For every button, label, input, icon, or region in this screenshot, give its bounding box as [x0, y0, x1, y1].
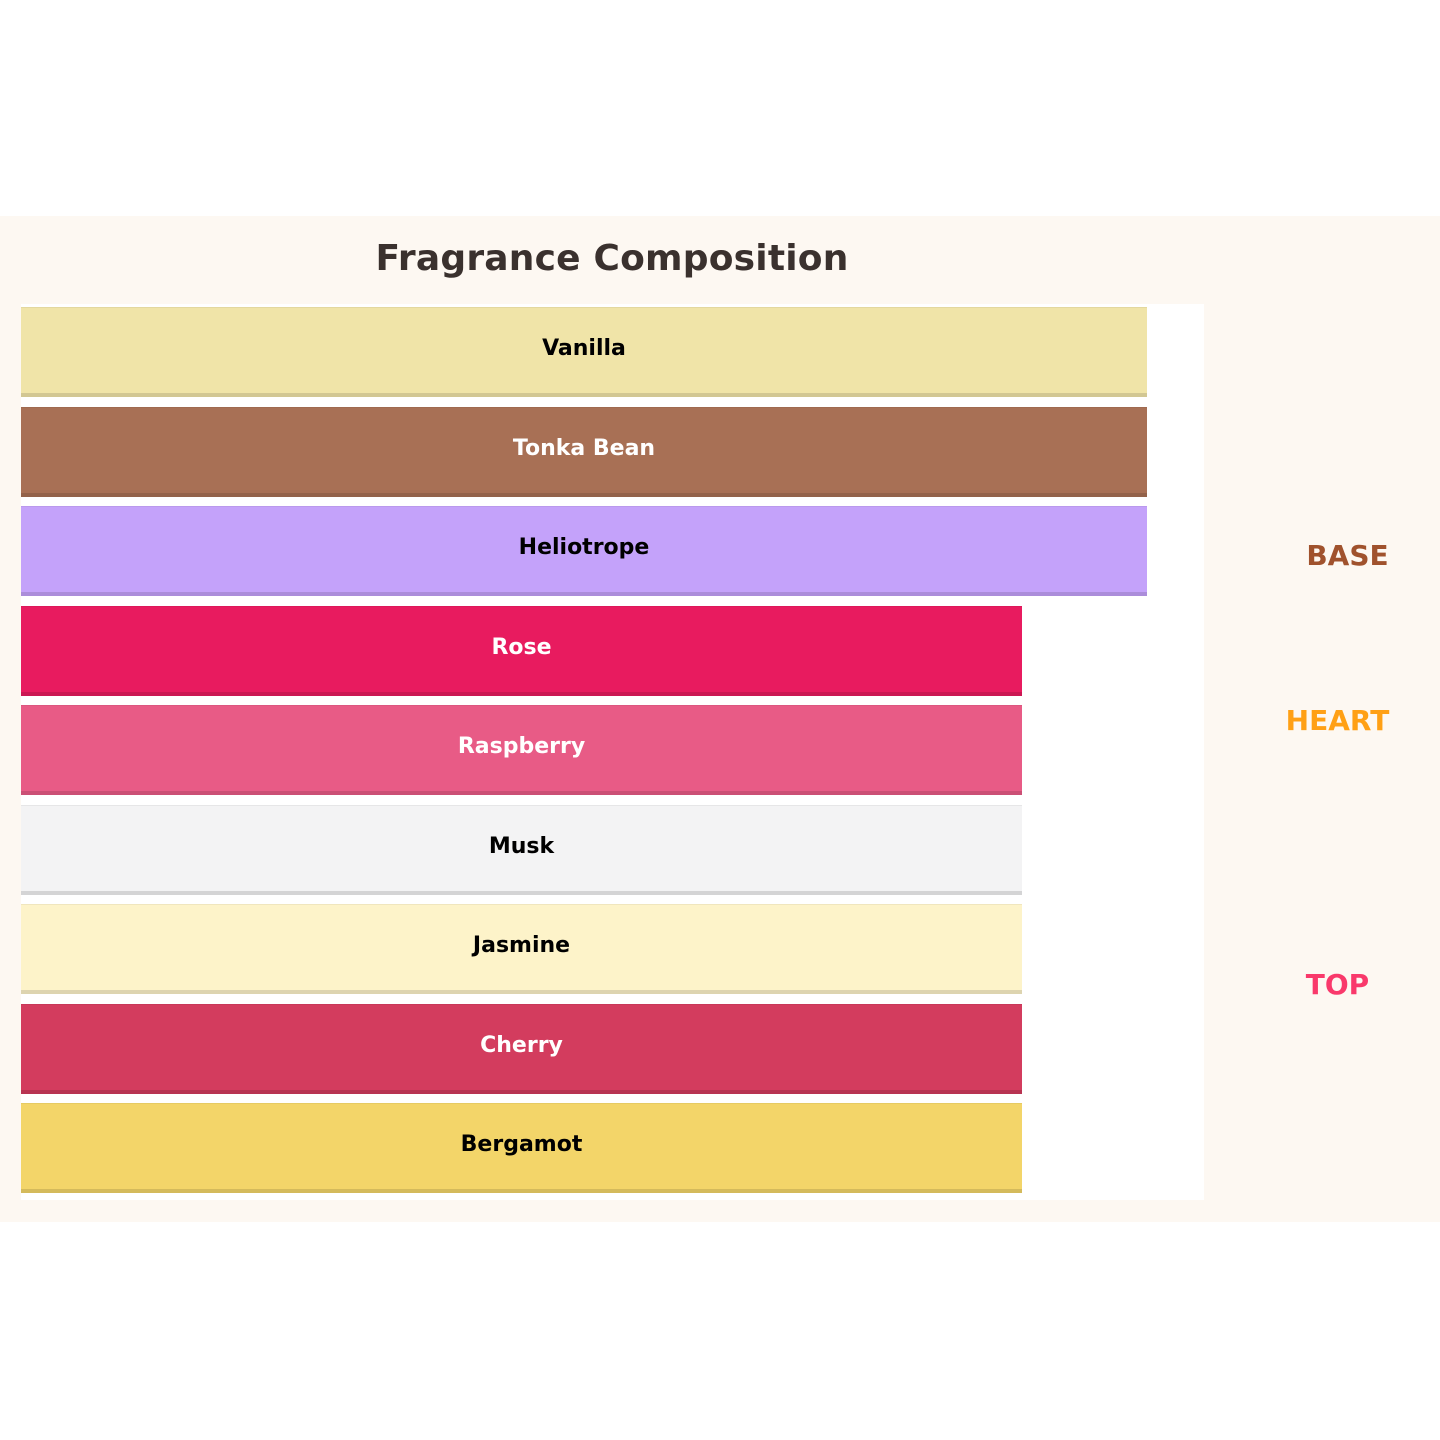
bar-vanilla[interactable]	[21, 307, 1147, 397]
chart-figure: Fragrance Composition Vanilla Tonka Bean…	[0, 216, 1440, 1222]
bar-bergamot[interactable]	[21, 1103, 1022, 1193]
bar-row: Cherry	[21, 1001, 1204, 1101]
bar-cherry[interactable]	[21, 1004, 1022, 1094]
bar-jasmine[interactable]	[21, 904, 1022, 994]
bar-musk[interactable]	[21, 805, 1022, 895]
plot-area: Vanilla Tonka Bean Heliotrope Rose Raspb…	[21, 304, 1204, 1200]
bar-row: Tonka Bean	[21, 404, 1204, 504]
page-title: Fragrance Composition	[0, 238, 1224, 279]
bar-row: Heliotrope	[21, 503, 1204, 603]
bar-heliotrope[interactable]	[21, 506, 1147, 596]
bar-raspberry[interactable]	[21, 705, 1022, 795]
bar-rose[interactable]	[21, 606, 1022, 696]
stage-label-base: BASE	[1264, 539, 1431, 572]
stage-label-heart: HEART	[1244, 704, 1431, 737]
bar-row: Vanilla	[21, 304, 1204, 404]
stage-label-top: TOP	[1254, 968, 1421, 1001]
bar-row: Rose	[21, 603, 1204, 703]
bar-row: Raspberry	[21, 702, 1204, 802]
bar-row: Bergamot	[21, 1100, 1204, 1200]
bar-row: Jasmine	[21, 901, 1204, 1001]
bar-tonka-bean[interactable]	[21, 407, 1147, 497]
bar-row: Musk	[21, 802, 1204, 902]
